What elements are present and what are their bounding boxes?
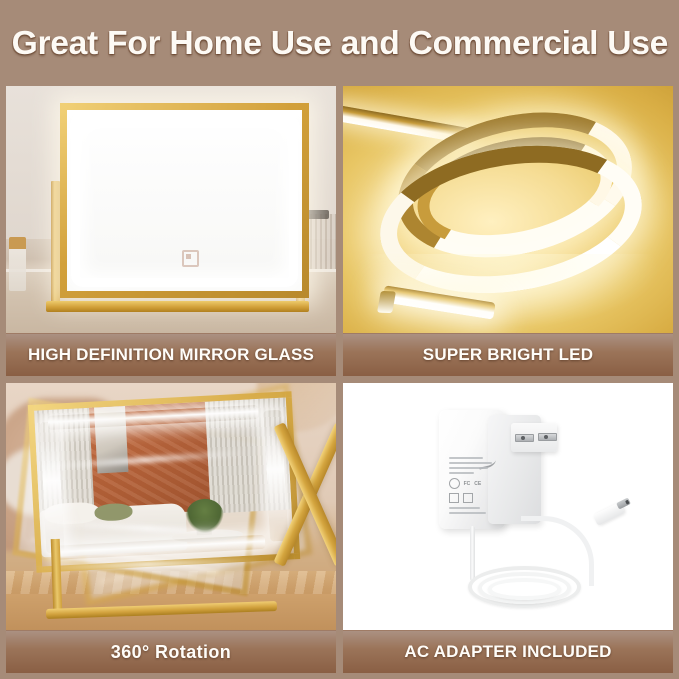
rotation-scene xyxy=(6,383,336,630)
eye-right xyxy=(198,163,207,168)
caption-bar-mirror-glass: HIGH DEFINITION MIRROR GLASS xyxy=(6,333,336,376)
feature-card-ac-adapter[interactable]: FC CE xyxy=(343,383,673,673)
feature-grid: HIGH DEFINITION MIRROR GLASS SUPER BRIGH… xyxy=(6,86,673,673)
cable-arc xyxy=(521,516,594,585)
led-scene xyxy=(343,86,673,333)
ac-adapter-photo: FC CE xyxy=(343,383,673,630)
caption-label: SUPER BRIGHT LED xyxy=(423,345,593,365)
feature-card-mirror-glass[interactable]: HIGH DEFINITION MIRROR GLASS xyxy=(6,86,336,376)
touch-control-icon[interactable] xyxy=(182,250,199,267)
label-text-line xyxy=(449,462,493,464)
eye-left xyxy=(172,165,181,170)
caption-label: HIGH DEFINITION MIRROR GLASS xyxy=(28,345,314,365)
mirror-glass-panel xyxy=(60,103,308,297)
ul-mark-icon xyxy=(449,478,460,489)
label-text-line xyxy=(449,457,484,459)
product-infographic: Great For Home Use and Commercial Use xyxy=(0,0,679,679)
title-banner: Great For Home Use and Commercial Use xyxy=(0,0,679,86)
mirror-main-position xyxy=(28,391,300,573)
vanity-scene xyxy=(6,86,336,333)
caption-label: 360° Rotation xyxy=(111,642,231,663)
double-insulation-icon xyxy=(463,493,473,503)
vanity-mirror xyxy=(56,103,300,308)
dc-connector-tip xyxy=(616,498,631,510)
ce-mark-icon: CE xyxy=(474,481,481,487)
mirror-stand-left xyxy=(51,181,60,308)
caption-label: AC ADAPTER INCLUDED xyxy=(404,642,611,662)
certification-marks: FC CE xyxy=(449,478,499,489)
mirror-glass-photo xyxy=(6,86,336,333)
label-text-line xyxy=(449,512,487,514)
label-text-line xyxy=(449,472,475,474)
caption-bar-super-bright-led: SUPER BRIGHT LED xyxy=(343,333,673,376)
certification-marks-secondary xyxy=(449,493,499,503)
fcc-mark-icon: FC xyxy=(464,481,471,487)
label-text-line xyxy=(449,467,489,469)
feature-card-super-bright-led[interactable]: SUPER BRIGHT LED xyxy=(343,86,673,376)
rotation-photo xyxy=(6,383,336,630)
adapter-spec-label: FC CE xyxy=(449,457,499,509)
led-strip-photo xyxy=(343,86,673,333)
feature-card-360-rotation[interactable]: 360° Rotation xyxy=(6,383,336,673)
mirror-base xyxy=(46,301,310,312)
wee-mark-icon xyxy=(449,493,459,503)
adapter-cable xyxy=(470,526,475,580)
adapter-scene: FC CE xyxy=(343,383,673,630)
perfume-bottle xyxy=(9,237,26,291)
led-floor-glow xyxy=(356,254,660,328)
eyebrow-right xyxy=(195,154,212,158)
caption-bar-360-rotation: 360° Rotation xyxy=(6,630,336,673)
caption-bar-ac-adapter: AC ADAPTER INCLUDED xyxy=(343,630,673,673)
label-text-line xyxy=(449,507,481,509)
page-title: Great For Home Use and Commercial Use xyxy=(11,24,667,62)
